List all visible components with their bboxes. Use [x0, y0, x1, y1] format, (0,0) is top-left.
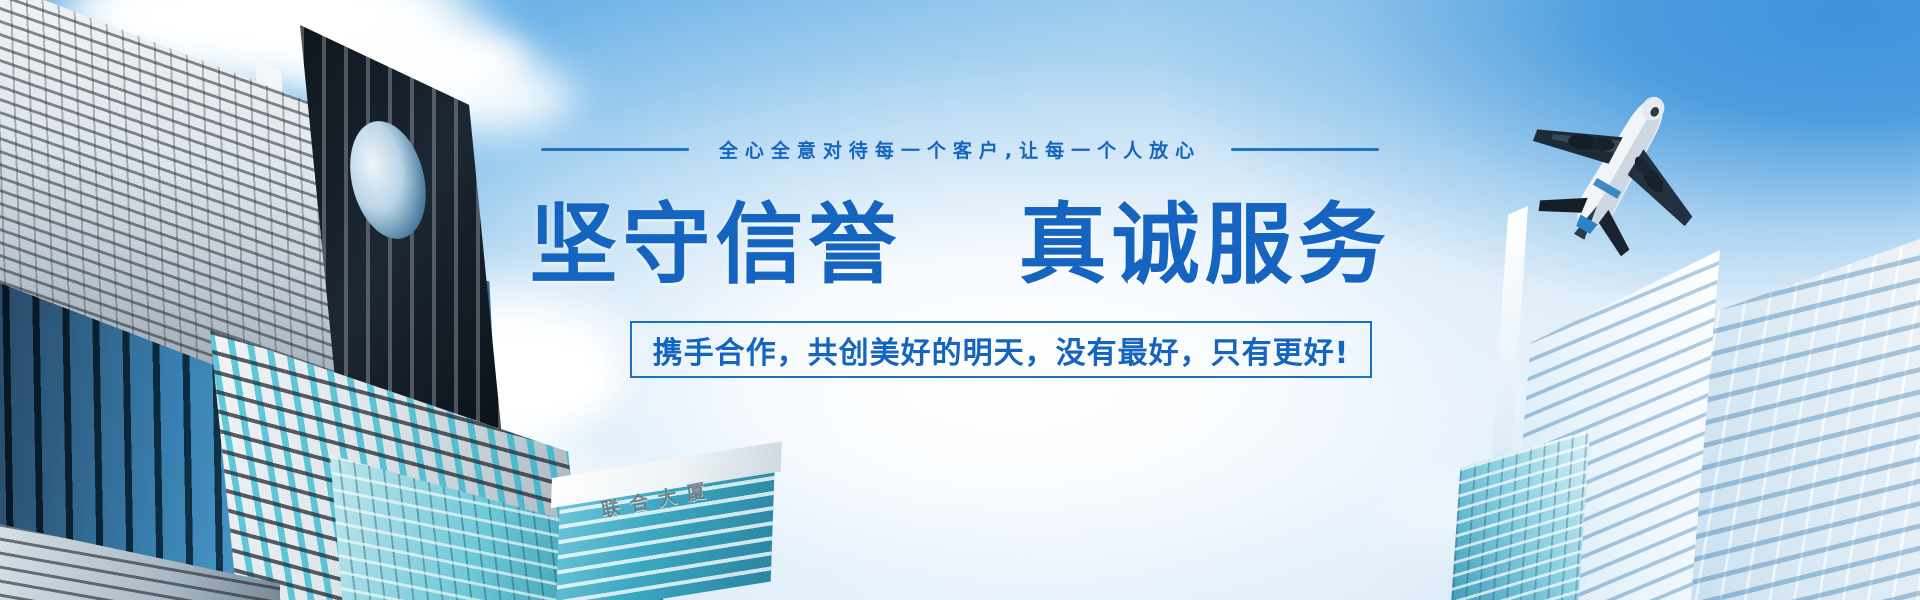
decorative-rule-right-icon	[1231, 148, 1379, 151]
headline-part-left: 坚守信誉	[529, 193, 901, 296]
headline-part-right: 真诚服务	[1019, 193, 1391, 296]
banner-tagline: 全心全意对待每一个客户,让每一个人放心	[719, 136, 1201, 163]
banner-subtitle: 携手合作，共创美好的明天，没有最好，只有更好!	[653, 328, 1350, 372]
hero-banner: 联合大厦	[0, 0, 1920, 600]
decorative-rule-left-icon	[541, 148, 689, 151]
banner-content: 全心全意对待每一个客户,让每一个人放心 坚守信誉 真诚服务 携手合作，共创美好的…	[0, 0, 1920, 600]
tagline-row: 全心全意对待每一个客户,让每一个人放心	[0, 136, 1920, 163]
banner-headline: 坚守信誉 真诚服务	[0, 196, 1920, 295]
subtitle-box: 携手合作，共创美好的明天，没有最好，只有更好!	[630, 321, 1372, 378]
